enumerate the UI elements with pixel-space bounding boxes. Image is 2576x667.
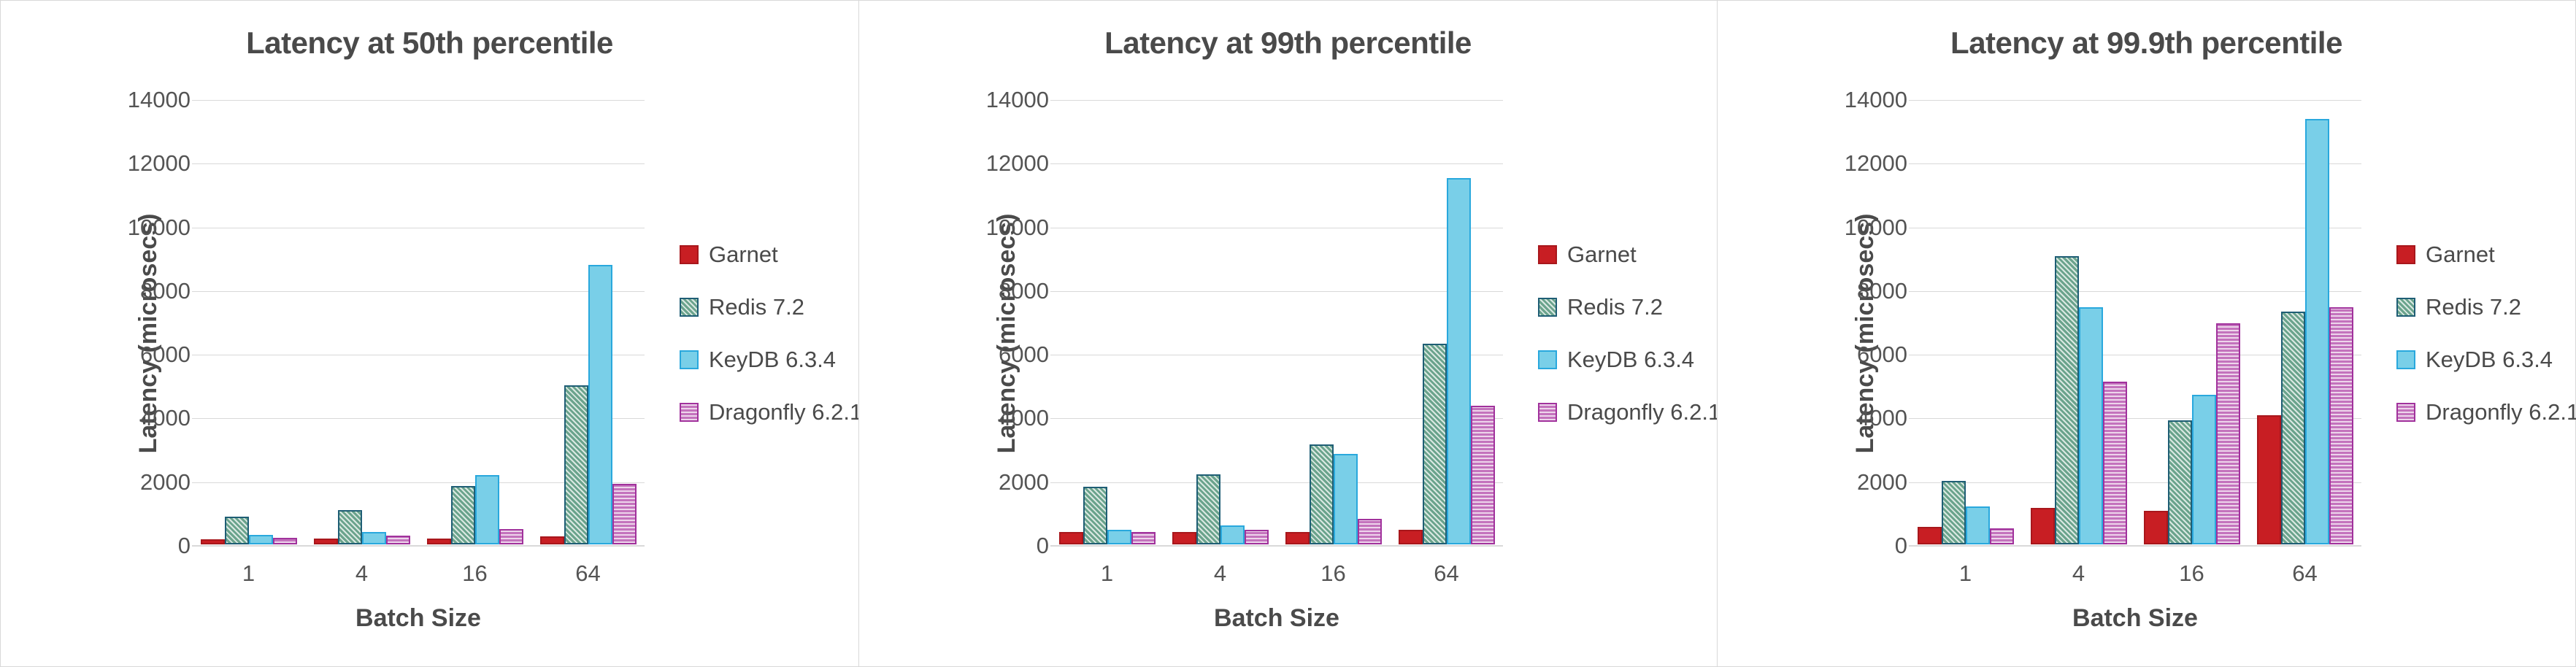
bar-keydb	[362, 532, 386, 544]
legend-item[interactable]: Redis 7.2	[680, 294, 873, 320]
bar-keydb	[1447, 178, 1471, 544]
plot-area: Latency (microsecs)020004000600080001000…	[1718, 1, 2575, 666]
y-tick-label: 10000	[932, 215, 1049, 241]
bar-keydb	[2079, 307, 2103, 544]
bar-redis	[2281, 312, 2305, 544]
x-axis-label-wrap: Batch Size	[1909, 604, 2361, 633]
legend-item[interactable]: KeyDB 6.3.4	[680, 347, 873, 373]
x-axis-label-wrap: Batch Size	[192, 604, 645, 633]
bar-keydb	[475, 475, 499, 544]
bar-redis	[1423, 344, 1447, 544]
bar-group	[418, 1, 531, 666]
legend-label: KeyDB 6.3.4	[709, 347, 836, 373]
bar-garnet	[540, 536, 564, 544]
bar-redis	[2055, 256, 2079, 544]
bar-group	[192, 1, 305, 666]
bar-group	[531, 1, 645, 666]
legend-item[interactable]: Redis 7.2	[1538, 294, 1731, 320]
bar-garnet	[2031, 508, 2055, 544]
legend-swatch-redis-icon	[2396, 298, 2415, 317]
chart-panel: Latency at 50th percentileLatency (micro…	[0, 0, 859, 667]
legend-item[interactable]: Dragonfly 6.2.11	[680, 399, 873, 425]
legend-label: Dragonfly 6.2.11	[2426, 399, 2576, 425]
bar-group	[1277, 1, 1390, 666]
bar-garnet	[2257, 415, 2281, 544]
legend-label: Garnet	[2426, 242, 2495, 268]
y-tick-label: 8000	[74, 278, 191, 304]
legend-item[interactable]: KeyDB 6.3.4	[1538, 347, 1731, 373]
charts-board: Latency at 50th percentileLatency (micro…	[0, 0, 2576, 667]
legend-label: Redis 7.2	[2426, 294, 2521, 320]
bar-keydb	[588, 265, 612, 544]
bar-keydb	[2192, 395, 2216, 544]
bar-dragonfly	[1358, 519, 1382, 544]
legend-swatch-garnet-icon	[2396, 245, 2415, 264]
legend-swatch-redis-icon	[680, 298, 699, 317]
bar-garnet	[1172, 532, 1196, 544]
chart-legend: GarnetRedis 7.2KeyDB 6.3.4Dragonfly 6.2.…	[2396, 242, 2576, 425]
bar-garnet	[201, 539, 225, 544]
legend-swatch-garnet-icon	[680, 245, 699, 264]
y-tick-label: 6000	[74, 342, 191, 368]
bar-keydb	[1966, 506, 1990, 544]
bar-redis	[1083, 487, 1107, 544]
bar-dragonfly	[612, 484, 637, 544]
bar-garnet	[427, 539, 451, 544]
y-tick-label: 2000	[932, 469, 1049, 496]
legend-item[interactable]: Dragonfly 6.2.11	[2396, 399, 2576, 425]
y-tick-label: 12000	[74, 150, 191, 177]
bar-group	[1909, 1, 2022, 666]
bar-redis	[1942, 481, 1966, 544]
legend-swatch-dragonfly-icon	[1538, 403, 1557, 422]
legend-swatch-keydb-icon	[1538, 350, 1557, 369]
bar-dragonfly	[386, 536, 410, 544]
legend-label: KeyDB 6.3.4	[1567, 347, 1694, 373]
legend-label: KeyDB 6.3.4	[2426, 347, 2553, 373]
y-tick-label: 4000	[1791, 405, 1907, 431]
bar-garnet	[2144, 511, 2168, 544]
bar-keydb	[2305, 119, 2329, 544]
legend-item[interactable]: Garnet	[680, 242, 873, 268]
bar-redis	[564, 385, 588, 544]
bar-group	[2022, 1, 2135, 666]
y-tick-label: 6000	[932, 342, 1049, 368]
y-tick-label: 4000	[74, 405, 191, 431]
legend-swatch-dragonfly-icon	[2396, 403, 2415, 422]
legend-swatch-keydb-icon	[680, 350, 699, 369]
y-tick-label: 4000	[932, 405, 1049, 431]
bar-garnet	[1285, 532, 1310, 544]
bar-group	[305, 1, 418, 666]
y-tick-label: 10000	[1791, 215, 1907, 241]
legend-label: Redis 7.2	[1567, 294, 1663, 320]
chart-panel: Latency at 99.9th percentileLatency (mic…	[1717, 0, 2576, 667]
bar-garnet	[314, 539, 338, 544]
bar-redis	[451, 486, 475, 544]
y-axis-ticks: 02000400060008000100001200014000	[66, 1, 191, 666]
y-tick-label: 12000	[1791, 150, 1907, 177]
bar-group	[1050, 1, 1164, 666]
chart-panel: Latency at 99th percentileLatency (micro…	[858, 0, 1718, 667]
y-tick-label: 0	[1791, 533, 1907, 559]
legend-item[interactable]: Garnet	[1538, 242, 1731, 268]
y-tick-label: 14000	[932, 87, 1049, 113]
bar-dragonfly	[2216, 323, 2240, 544]
y-tick-label: 14000	[1791, 87, 1907, 113]
bar-redis	[1310, 444, 1334, 544]
bar-redis	[2168, 420, 2192, 544]
bar-group	[2135, 1, 2248, 666]
y-tick-label: 2000	[74, 469, 191, 496]
legend-swatch-garnet-icon	[1538, 245, 1557, 264]
bar-group	[1390, 1, 1503, 666]
bar-redis	[225, 517, 249, 544]
legend-label: Dragonfly 6.2.11	[709, 399, 873, 425]
bar-redis	[1196, 474, 1220, 544]
legend-swatch-dragonfly-icon	[680, 403, 699, 422]
legend-item[interactable]: KeyDB 6.3.4	[2396, 347, 2576, 373]
bars-layer	[1909, 1, 2361, 666]
legend-swatch-redis-icon	[1538, 298, 1557, 317]
bar-group	[2248, 1, 2361, 666]
bars-layer	[1050, 1, 1503, 666]
y-tick-label: 8000	[932, 278, 1049, 304]
bar-dragonfly	[1990, 528, 2014, 544]
legend-label: Garnet	[1567, 242, 1637, 268]
y-tick-label: 2000	[1791, 469, 1907, 496]
bar-redis	[338, 510, 362, 544]
x-axis-label: Batch Size	[355, 604, 481, 633]
y-axis-ticks: 02000400060008000100001200014000	[925, 1, 1049, 666]
bar-dragonfly	[499, 529, 523, 544]
bar-keydb	[1334, 454, 1358, 544]
bar-dragonfly	[1131, 532, 1156, 544]
y-tick-label: 0	[932, 533, 1049, 559]
legend-label: Redis 7.2	[709, 294, 804, 320]
legend-item[interactable]: Redis 7.2	[2396, 294, 2576, 320]
bar-keydb	[249, 535, 273, 544]
bar-keydb	[1107, 530, 1131, 544]
legend-label: Garnet	[709, 242, 778, 268]
chart-legend: GarnetRedis 7.2KeyDB 6.3.4Dragonfly 6.2.…	[680, 242, 873, 425]
bar-garnet	[1918, 527, 1942, 544]
plot-area: Latency (microsecs)020004000600080001000…	[1, 1, 858, 666]
y-tick-label: 12000	[932, 150, 1049, 177]
legend-swatch-keydb-icon	[2396, 350, 2415, 369]
y-tick-label: 14000	[74, 87, 191, 113]
bar-garnet	[1059, 532, 1083, 544]
bar-garnet	[1399, 530, 1423, 544]
legend-item[interactable]: Dragonfly 6.2.11	[1538, 399, 1731, 425]
bar-dragonfly	[273, 538, 297, 544]
y-tick-label: 0	[74, 533, 191, 559]
y-tick-label: 10000	[74, 215, 191, 241]
bars-layer	[192, 1, 645, 666]
legend-item[interactable]: Garnet	[2396, 242, 2576, 268]
x-axis-label-wrap: Batch Size	[1050, 604, 1503, 633]
chart-legend: GarnetRedis 7.2KeyDB 6.3.4Dragonfly 6.2.…	[1538, 242, 1731, 425]
plot-area: Latency (microsecs)020004000600080001000…	[859, 1, 1717, 666]
y-tick-label: 8000	[1791, 278, 1907, 304]
bar-keydb	[1220, 525, 1245, 544]
x-axis-label: Batch Size	[1214, 604, 1339, 633]
bar-dragonfly	[2103, 382, 2127, 544]
y-tick-label: 6000	[1791, 342, 1907, 368]
y-axis-ticks: 02000400060008000100001200014000	[1783, 1, 1907, 666]
bar-dragonfly	[1471, 406, 1495, 544]
legend-label: Dragonfly 6.2.11	[1567, 399, 1731, 425]
bar-dragonfly	[2329, 307, 2353, 544]
bar-dragonfly	[1245, 530, 1269, 544]
x-axis-label: Batch Size	[2072, 604, 2198, 633]
bar-group	[1164, 1, 1277, 666]
